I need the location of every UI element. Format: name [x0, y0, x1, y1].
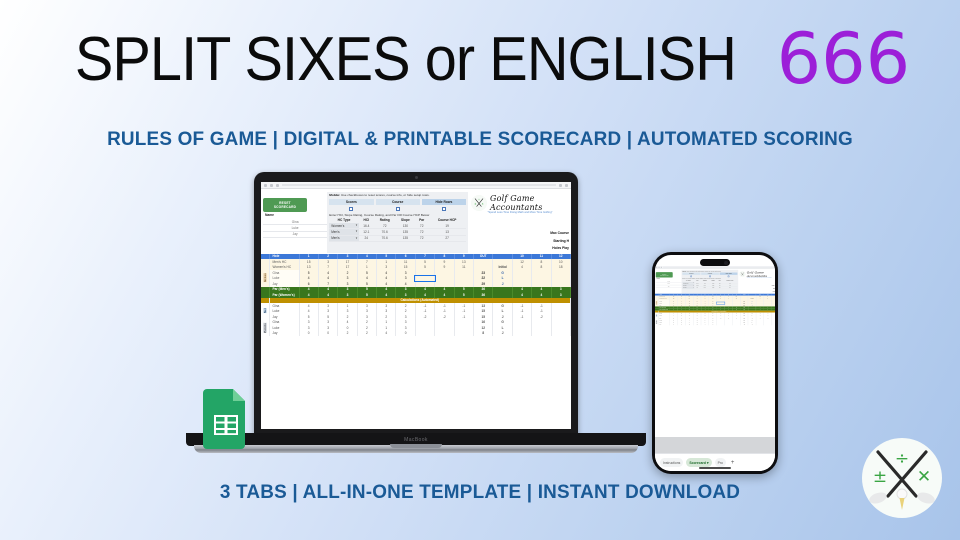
checkbox-course[interactable]: Course	[701, 273, 719, 277]
setup-values-table: HC TypeHCIRatingSlopeParCourse HCP Women…	[329, 218, 466, 243]
brand-logo-icon: ÷ ± ×	[471, 195, 487, 211]
player-name[interactable]: Jay	[656, 285, 682, 287]
checkbox-input[interactable]	[442, 207, 446, 211]
golf-game-accountants-logo: ÷ ± ✕	[858, 434, 946, 522]
front-camera-icon	[724, 261, 728, 265]
svg-text:±: ±	[475, 202, 477, 206]
checkbox-label: Hide Rows	[422, 199, 466, 205]
checkbox-input[interactable]	[728, 275, 730, 277]
toolbar-icon[interactable]	[661, 267, 662, 268]
points-cell[interactable]: 4	[701, 323, 709, 325]
player-name-cell[interactable]: Jay	[658, 323, 670, 325]
points-cell[interactable]: 2	[685, 323, 693, 325]
points-cell[interactable]: 0	[677, 323, 685, 325]
brand-name: Golf Game Accountants	[490, 194, 569, 212]
setup-slope-cell[interactable]: 135	[396, 235, 416, 241]
setup-par-cell[interactable]: 72	[415, 235, 428, 241]
mobile-note: Mobile: Use checkboxes to reset scores, …	[329, 193, 466, 197]
setup-values-table: HC TypeHCIRatingSlopeParCourse HCP Women…	[682, 280, 737, 289]
setup-names-table: GinaLukeJay	[656, 280, 682, 287]
toolbar-icon[interactable]	[565, 184, 568, 187]
checkbox-input[interactable]	[709, 275, 711, 277]
points-cell[interactable]: 2	[693, 323, 701, 325]
brand-lockup: ÷ ± × Golf Game Accountants	[471, 194, 569, 212]
setup-hc-type-cell[interactable]: Men's	[329, 235, 359, 241]
checkbox-label: Course	[376, 199, 420, 205]
points-cell[interactable]: 2	[357, 331, 376, 337]
toolbar-icon[interactable]	[276, 184, 279, 187]
setup-name-row[interactable]: Jay	[656, 285, 682, 287]
points-cell[interactable]: 0	[318, 331, 337, 337]
phone-mockup: RESET SCORECARD Name GinaLukeJay Mobile:…	[652, 252, 778, 474]
points-cell[interactable]: 0	[396, 331, 415, 337]
checkbox-row: ScoresCourseHide Rows	[682, 273, 737, 277]
brand-panel: ÷ ± × Golf Game Accountants "Spend Less …	[738, 270, 775, 293]
points-cell[interactable]: 0	[670, 323, 678, 325]
sheet-setup-header: RESET SCORECARD Name GinaLukeJay Mobile:…	[261, 189, 571, 254]
par-label: Par (Women's)	[658, 308, 670, 310]
phone-tab-scorecard[interactable]: Scorecard ▾	[686, 458, 711, 467]
points-cell[interactable]	[551, 331, 570, 337]
points-cell[interactable]	[764, 323, 772, 325]
phone-screen: RESET SCORECARD Name GinaLukeJay Mobile:…	[655, 255, 775, 471]
svg-text:÷: ÷	[895, 449, 909, 469]
checkbox-scores[interactable]: Scores	[682, 273, 700, 277]
google-sheets-icon	[203, 389, 249, 449]
course-stat-label: Max Course	[471, 230, 569, 238]
points-cell[interactable]	[717, 323, 725, 325]
checkbox-label: Scores	[329, 199, 373, 205]
reset-button-line2: SCORECARD	[660, 275, 669, 277]
toolbar-filler	[663, 267, 774, 268]
course-stat-label: Starting H	[471, 238, 569, 246]
spreadsheet-toolbar[interactable]	[261, 182, 571, 189]
hero-subheadline: RULES OF GAME | DIGITAL & PRINTABLE SCOR…	[14, 128, 945, 151]
laptop-camera-icon	[415, 176, 418, 179]
row-group-label: Net	[261, 303, 269, 320]
hero-title-number: 666	[777, 18, 911, 100]
points-cell[interactable]	[756, 323, 764, 325]
toolbar-icon[interactable]	[270, 184, 273, 187]
reset-scorecard-button[interactable]: RESET SCORECARD	[263, 198, 307, 212]
points-cell[interactable]: 4	[377, 331, 396, 337]
checkbox-input[interactable]	[349, 207, 353, 211]
phone-spreadsheet-clone: RESET SCORECARD Name GinaLukeJay Mobile:…	[655, 266, 775, 437]
checkbox-hide-rows[interactable]: Hide Rows	[720, 273, 738, 277]
mobile-note: Mobile: Use checkboxes to reset scores, …	[682, 270, 737, 272]
reset-panel: RESET SCORECARD Name GinaLukeJay	[656, 270, 682, 293]
reset-panel: RESET SCORECARD Name GinaLukeJay	[263, 192, 327, 253]
points-row: Jay0022408J	[261, 331, 571, 337]
mobile-controls-panel: Mobile: Use checkboxes to reset scores, …	[682, 270, 739, 293]
course-stat-label: Holes Play	[739, 290, 775, 293]
setup-name-row[interactable]: Jay	[263, 231, 327, 237]
points-cell[interactable]	[732, 323, 740, 325]
points-cell[interactable]	[415, 331, 434, 337]
setup-slope-cell[interactable]: 135	[709, 287, 717, 289]
player-initial-cell: J	[748, 323, 756, 325]
points-cell[interactable]	[772, 323, 775, 325]
setup-course-hcp-cell[interactable]: 27	[722, 287, 737, 289]
spreadsheet-app: RESET SCORECARD Name GinaLukeJay Mobile:…	[261, 182, 571, 429]
checkbox-input[interactable]	[691, 275, 693, 277]
name-column-header: Name	[263, 212, 327, 218]
points-cell[interactable]: 0	[299, 331, 318, 337]
laptop-screen: RESET SCORECARD Name GinaLukeJay Mobile:…	[261, 182, 571, 429]
points-row: Jay0022408J	[655, 323, 775, 325]
setup-rating-cell[interactable]: 70.6	[374, 235, 396, 241]
hero-footline: 3 TABS | ALL-IN-ONE TEMPLATE | INSTANT D…	[14, 481, 945, 504]
setup-value-row[interactable]: Men's2470.61357227	[329, 235, 466, 241]
hero-title-text: SPLIT SIXES or ENGLISH	[75, 24, 736, 95]
checkbox-row: ScoresCourseHide Rows	[329, 199, 466, 211]
setup-value-row[interactable]: Men's2470.61357227	[682, 287, 737, 289]
checkbox-hide-rows[interactable]: Hide Rows	[422, 199, 466, 211]
points-cell[interactable]	[725, 323, 733, 325]
toolbar-icon[interactable]	[656, 267, 657, 268]
reset-button-line2: SCORECARD	[274, 205, 296, 209]
home-indicator	[699, 467, 731, 469]
laptop-notch	[390, 444, 442, 448]
mobile-note-text: Use checkboxes to reset scores, course i…	[341, 193, 430, 197]
svg-text:×: ×	[482, 202, 484, 206]
scorecard-grid[interactable]: Hole123456789OUT101112Men's HC1531771115…	[655, 294, 775, 326]
setup-hci-cell[interactable]: 24	[359, 235, 374, 241]
out-total-cell: 8	[474, 331, 493, 337]
hero-title: SPLIT SIXES or ENGLISH 666	[0, 20, 960, 98]
toolbar-filler	[282, 184, 556, 186]
mobile-note-text: Use checkboxes to reset scores, course i…	[687, 270, 721, 272]
svg-text:÷: ÷	[478, 198, 480, 202]
row-group-label: Gross	[261, 270, 269, 287]
points-cell[interactable]	[512, 331, 531, 337]
setup-hc-type-cell[interactable]: Men's	[682, 287, 694, 289]
laptop-brand-label: MacBook	[404, 437, 428, 443]
points-cell[interactable]: 2	[338, 331, 357, 337]
brand-logo-icon: ÷ ± ×	[739, 271, 745, 277]
phone-spreadsheet-view[interactable]: RESET SCORECARD Name GinaLukeJay Mobile:…	[655, 266, 775, 437]
setup-rating-cell[interactable]: 70.6	[700, 287, 709, 289]
points-cell[interactable]: 0	[709, 323, 717, 325]
scorecard-grid[interactable]: Hole123456789OUT101112Men's HC1531771115…	[261, 254, 571, 337]
phone-tab-instructions[interactable]: Instructions	[660, 458, 683, 467]
out-total-cell: 8	[740, 323, 748, 325]
player-name[interactable]: Jay	[263, 231, 327, 237]
points-cell[interactable]	[435, 331, 454, 337]
add-sheet-plus-icon[interactable]: +	[729, 460, 737, 466]
setup-course-hcp-cell[interactable]: 27	[428, 235, 466, 241]
player-name-cell[interactable]: Jay	[269, 331, 299, 337]
dynamic-island	[700, 259, 730, 266]
course-stat-label: Holes Play	[471, 245, 569, 253]
toolbar-icon[interactable]	[658, 267, 659, 268]
course-stats-labels: Max CourseStarting HHoles Play	[739, 278, 775, 293]
laptop-lid: RESET SCORECARD Name GinaLukeJay Mobile:…	[254, 172, 578, 438]
sheet-setup-header: RESET SCORECARD Name GinaLukeJay Mobile:…	[655, 269, 775, 294]
player-initial-cell: J	[493, 331, 512, 337]
checkbox-input[interactable]	[396, 207, 400, 211]
phone-tab-pro[interactable]: Pro	[715, 458, 726, 467]
laptop-mockup: RESET SCORECARD Name GinaLukeJay Mobile:…	[186, 172, 646, 456]
toolbar-icon[interactable]	[559, 184, 562, 187]
checkbox-scores[interactable]: Scores	[329, 199, 373, 211]
mobile-controls-panel: Mobile: Use checkboxes to reset scores, …	[327, 192, 468, 253]
setup-names-table: GinaLukeJay	[263, 219, 327, 238]
brand-panel: ÷ ± × Golf Game Accountants "Spend Less …	[468, 192, 569, 253]
row-group-label: Points	[261, 320, 269, 337]
enter-instructions: Enter HCI, Slope Rating, Course Rating, …	[329, 213, 466, 217]
points-cell[interactable]	[454, 331, 473, 337]
toolbar-icon[interactable]	[264, 184, 267, 187]
course-stats-labels: Max CourseStarting HHoles Play	[471, 214, 569, 253]
checkbox-course[interactable]: Course	[376, 199, 420, 211]
par-label: Par (Women's)	[269, 292, 299, 298]
mobile-note-label: Mobile:	[329, 193, 340, 197]
points-cell[interactable]	[532, 331, 551, 337]
